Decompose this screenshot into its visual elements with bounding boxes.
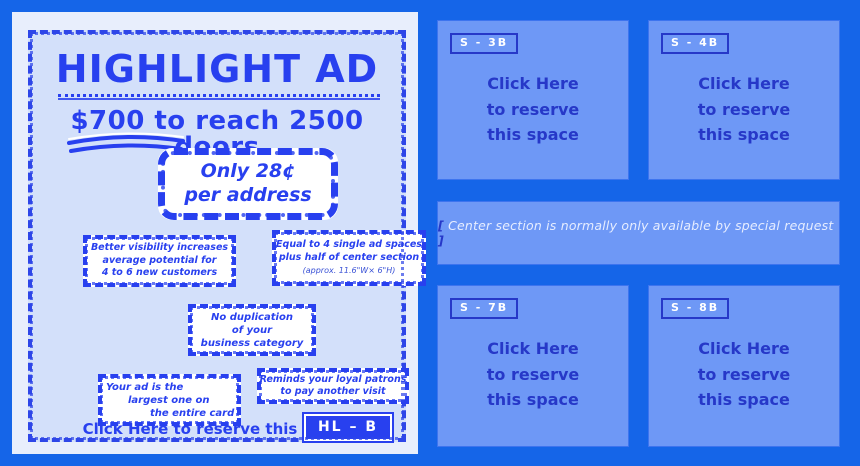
highlight-ad-inner-frame: HIGHLIGHT AD $700 to reach 2500 doors On… [28,30,406,442]
slot-cta-line: Click Here [649,71,839,97]
highlight-ad-slot-badge: HL – B [304,414,392,441]
price-callout-box: Only 28¢ per address [158,148,338,220]
title-divider-secondary [58,98,380,100]
center-section-band[interactable]: [ Center section is normally only availa… [437,201,840,265]
slot-reserve-link-s-7b[interactable]: Click Here to reserve this space [438,336,628,413]
feature-line: Better visibility increases [83,242,236,254]
slot-cta-line: Click Here [438,71,628,97]
feature-line: Equal to 4 single ad spaces [272,239,426,251]
feature-line: Reminds your loyal patrons [257,374,409,386]
bracket-close: ] [438,233,444,248]
title-divider [58,94,380,97]
feature-line: average potential for [83,255,236,267]
feature-size-note: (approx. 11.6"W× 6"H) [272,266,426,276]
slot-cta-line: to reserve [438,97,628,123]
slot-badge-s-3b: S - 3B [450,33,518,54]
price-line-1: Only 28¢ [201,160,296,184]
slot-s-3b[interactable]: S - 3B Click Here to reserve this space [437,20,629,180]
slot-reserve-link-s-3b[interactable]: Click Here to reserve this space [438,71,628,148]
slot-cta-line: this space [438,122,628,148]
feature-line: of your [188,324,316,337]
feature-line: plus half of center section [272,252,426,264]
slot-s-7b[interactable]: S - 7B Click Here to reserve this space [437,285,629,447]
feature-line: business category [188,337,316,350]
slot-cta-line: Click Here [649,336,839,362]
feature-box-equal-to-four: Equal to 4 single ad spaces plus half of… [272,230,426,286]
center-section-note-text: Center section is normally only availabl… [444,218,834,233]
center-section-note: [ Center section is normally only availa… [438,218,839,248]
slot-cta-line: this space [649,387,839,413]
feature-line: largest one on [106,394,241,407]
feature-line: Your ad is the [106,381,241,394]
slot-cta-line: this space [438,387,628,413]
slot-cta-line: to reserve [649,97,839,123]
slot-s-8b[interactable]: S - 8B Click Here to reserve this space [648,285,840,447]
slot-badge-s-4b: S - 4B [661,33,729,54]
ad-layout-canvas: HIGHLIGHT AD $700 to reach 2500 doors On… [0,0,860,466]
page-title: HIGHLIGHT AD [28,50,406,88]
feature-box-largest-ad: Your ad is the largest one on the entire… [98,374,241,426]
feature-box-no-duplication: No duplication of your business category [188,304,316,356]
slot-reserve-link-s-4b[interactable]: Click Here to reserve this space [649,71,839,148]
slot-reserve-link-s-8b[interactable]: Click Here to reserve this space [649,336,839,413]
slot-badge-s-8b: S - 8B [661,298,729,319]
feature-box-visibility: Better visibility increases average pote… [83,235,236,287]
slot-cta-line: to reserve [649,362,839,388]
highlight-ad-panel[interactable]: HIGHLIGHT AD $700 to reach 2500 doors On… [12,12,418,454]
feature-box-reminds-patrons: Reminds your loyal patrons to pay anothe… [257,368,409,404]
slot-badge-s-7b: S - 7B [450,298,518,319]
slot-cta-line: this space [649,122,839,148]
slot-cta-line: to reserve [438,362,628,388]
slot-s-4b[interactable]: S - 4B Click Here to reserve this space [648,20,840,180]
price-line-2: per address [184,184,311,208]
feature-line: 4 to 6 new customers [83,267,236,279]
feature-line: to pay another visit [257,386,409,398]
feature-line: No duplication [188,311,316,324]
slot-cta-line: Click Here [438,336,628,362]
feature-line: the entire card [106,407,241,420]
